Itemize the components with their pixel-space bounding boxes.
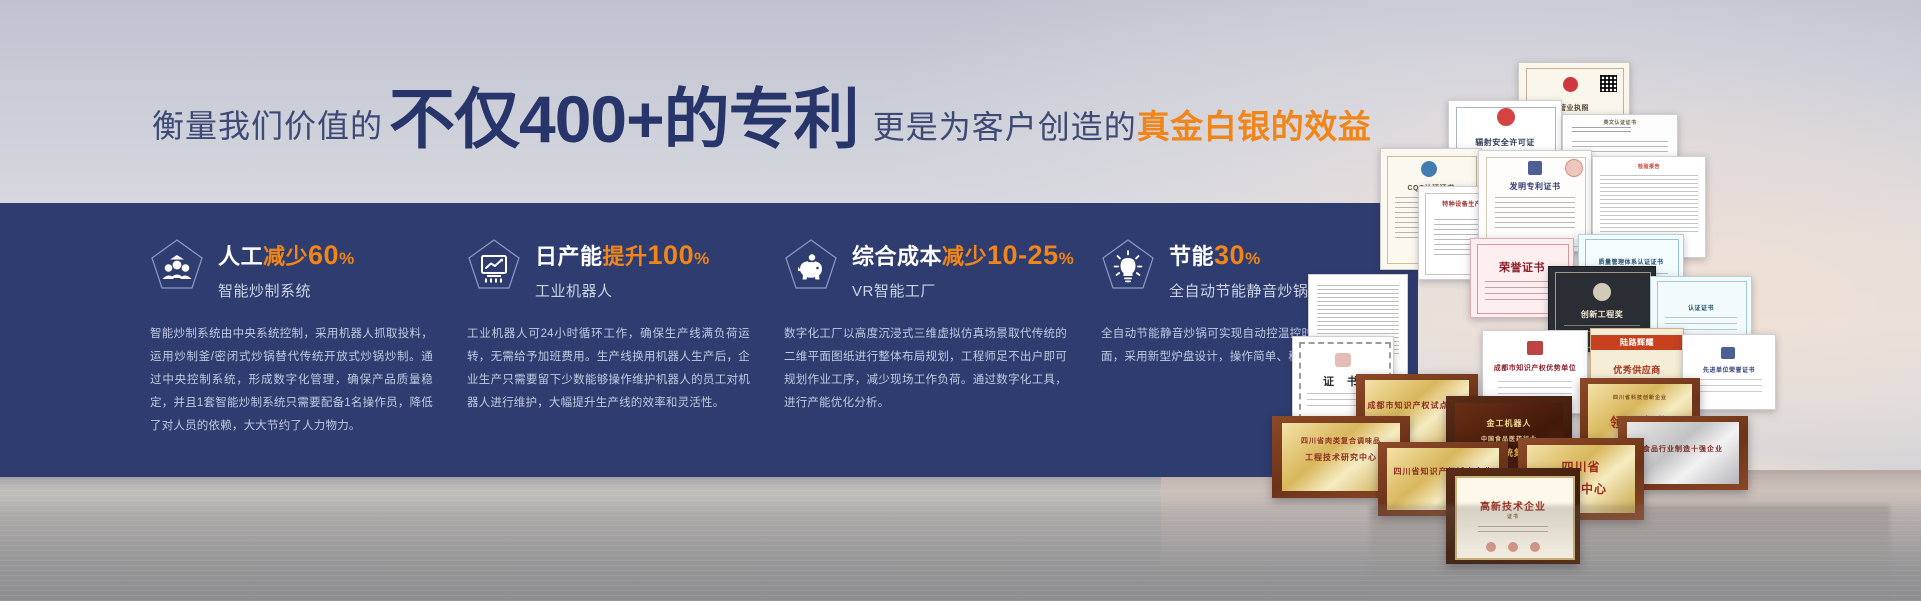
- headline-middle: 更是为客户创造的: [873, 102, 1137, 148]
- feature-body: 数字化工厂以高度沉浸式三维虚拟仿真场景取代传统的二维平面图纸进行整体布局规划，工…: [784, 323, 1071, 415]
- plaque-label: 四川省科技创新企业: [1580, 394, 1700, 401]
- feature-number: 60: [308, 240, 339, 270]
- feature-item: 日产能提升100% 工业机器人 工业机器人可24小时循环工作，确保生产线满负荷运…: [467, 203, 784, 477]
- feature-title-prefix: 综合成本: [852, 244, 942, 269]
- feature-panel: 人工减少60% 智能炒制系统 智能炒制系统由中央系统控制，采用机器人抓取投料，运…: [0, 203, 1418, 477]
- feature-title-prefix: 日产能: [535, 244, 603, 269]
- feature-title-accent: 减少: [263, 244, 308, 269]
- feature-body: 智能炒制系统由中央系统控制，采用机器人抓取投料，运用炒制釜/密闭式炒锅替代传统开…: [150, 323, 437, 438]
- headline-emphasis: 不仅400+的专利: [389, 88, 859, 151]
- headline: 衡量我们价值的 不仅400+的专利 更是为客户创造的 真金白银的效益: [152, 84, 1371, 148]
- plaque-reflection: [1370, 505, 1890, 601]
- feature-subtitle: VR智能工厂: [852, 280, 1074, 301]
- feature-number: 100: [648, 240, 695, 270]
- headline-prefix: 衡量我们价值的: [152, 101, 383, 147]
- feature-title-prefix: 人工: [218, 244, 263, 269]
- feature-title: 人工减少60%: [218, 240, 355, 271]
- feature-title-accent: 提升: [603, 244, 648, 269]
- feature-subtitle: 工业机器人: [535, 280, 710, 301]
- piggy-bank-icon: [784, 238, 838, 294]
- feature-body: 工业机器人可24小时循环工作，确保生产线满负荷运转，无需给予加班费用。生产线换用…: [467, 323, 754, 415]
- chart-monitor-icon: [467, 238, 521, 294]
- banner-stage: 衡量我们价值的 不仅400+的专利 更是为客户创造的 真金白银的效益: [0, 0, 1921, 601]
- feature-unit: %: [694, 249, 710, 268]
- certificate-item: 发明专利证书: [1478, 150, 1592, 252]
- feature-subtitle: 智能炒制系统: [218, 280, 355, 301]
- feature-unit: %: [1059, 249, 1075, 268]
- feature-title-accent: 减少: [942, 244, 987, 269]
- people-group-icon: [150, 238, 204, 294]
- feature-number: 30: [1214, 240, 1245, 270]
- feature-title: 综合成本减少10-25%: [852, 240, 1074, 271]
- feature-title-prefix: 节能: [1169, 244, 1214, 269]
- certificate-stack: 营业执照 辐射安全许可证 英文认证证书 CQC认证证书 特种设备生产许可证: [1250, 38, 1921, 558]
- feature-title: 日产能提升100%: [535, 240, 710, 271]
- feature-item: 人工减少60% 智能炒制系统 智能炒制系统由中央系统控制，采用机器人抓取投料，运…: [150, 203, 467, 477]
- feature-number: 10-25: [987, 240, 1059, 270]
- feature-item: 综合成本减少10-25% VR智能工厂 数字化工厂以高度沉浸式三维虚拟仿真场景取…: [784, 203, 1101, 477]
- lightbulb-icon: [1101, 238, 1155, 294]
- feature-unit: %: [339, 249, 355, 268]
- plaque-label: 金工机器人: [1446, 418, 1572, 429]
